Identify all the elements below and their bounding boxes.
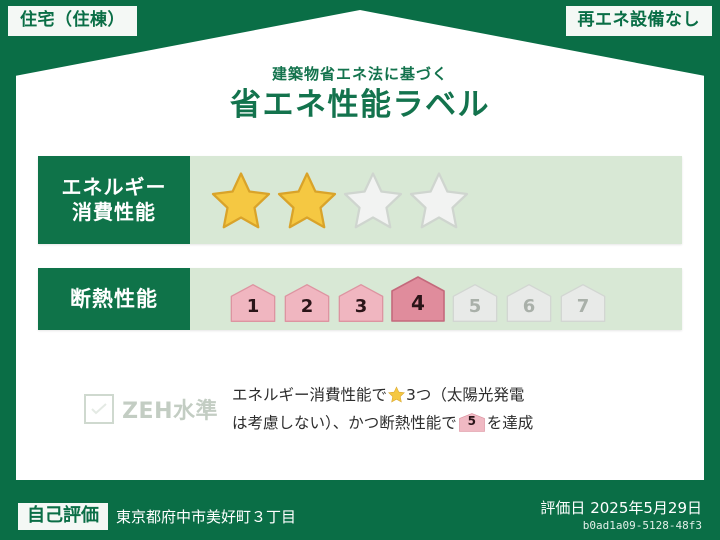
note-part2: 3つ（太陽光発電: [406, 386, 524, 404]
zeh-checkbox-icon: [84, 394, 114, 424]
insulation-performance-label-box: 断熱性能: [38, 268, 190, 330]
insulation-grade-badge: 6: [504, 283, 554, 323]
insulation-grade-scale: 1234567: [210, 275, 608, 323]
zeh-note-area: ZEH水準 エネルギー消費性能で3つ（太陽光発電は考慮しない）、かつ断熱性能で5…: [38, 374, 682, 444]
insulation-performance-row: 断熱性能 1234567: [38, 268, 682, 330]
insulation-grade-badge: 2: [282, 283, 332, 323]
note-part1: エネルギー消費性能で: [232, 386, 387, 404]
insulation-grade-badge: 1: [228, 283, 278, 323]
star-empty-icon: [342, 170, 404, 230]
energy-label-line2: 消費性能: [72, 200, 156, 225]
energy-performance-label: 住宅（住棟） 再エネ設備なし 建築物省エネ法に基づく 省エネ性能ラベル エネルギ…: [0, 0, 720, 540]
label-id: b0ad1a09-5128-48f3: [540, 519, 702, 532]
title-block: 建築物省エネ法に基づく 省エネ性能ラベル: [0, 66, 720, 124]
insulation-grade-badge: 5: [450, 283, 500, 323]
footer-left: 自己評価 東京都府中市美好町３丁目: [18, 503, 296, 530]
energy-performance-row: エネルギー 消費性能: [38, 156, 682, 244]
star-filled-icon: [276, 170, 338, 230]
zeh-standard-block: ZEH水準: [38, 393, 232, 425]
property-address: 東京都府中市美好町３丁目: [116, 506, 296, 527]
star-rating: [190, 156, 682, 244]
note-part4: を達成: [487, 414, 534, 432]
note-part3: は考慮しない）、かつ断熱性能で: [232, 414, 457, 432]
insulation-grade-badge: 4: [390, 275, 446, 323]
inline-star-icon: [388, 386, 405, 410]
zeh-standard-label: ZEH水準: [122, 393, 218, 425]
energy-performance-label-box: エネルギー 消費性能: [38, 156, 190, 244]
label-subtitle: 建築物省エネ法に基づく: [0, 66, 720, 83]
insulation-grade-badge: 7: [558, 283, 608, 323]
evaluation-type-badge: 自己評価: [18, 503, 108, 530]
inline-grade-badge: 5: [459, 413, 485, 432]
evaluation-date: 評価日 2025年5月29日: [540, 499, 702, 517]
energy-label-line1: エネルギー: [62, 175, 167, 200]
insulation-label: 断熱性能: [70, 286, 158, 312]
page-title: 省エネ性能ラベル: [0, 86, 720, 125]
star-filled-icon: [210, 170, 272, 230]
renewable-energy-tag: 再エネ設備なし: [566, 6, 713, 36]
footer-right: 評価日 2025年5月29日 b0ad1a09-5128-48f3: [540, 499, 702, 532]
insulation-grade-body: 1234567: [190, 268, 682, 330]
building-type-tag: 住宅（住棟）: [8, 6, 137, 36]
insulation-grade-badge: 3: [336, 283, 386, 323]
zeh-criteria-text: エネルギー消費性能で3つ（太陽光発電は考慮しない）、かつ断熱性能で5を達成: [232, 383, 682, 434]
star-empty-icon: [408, 170, 470, 230]
